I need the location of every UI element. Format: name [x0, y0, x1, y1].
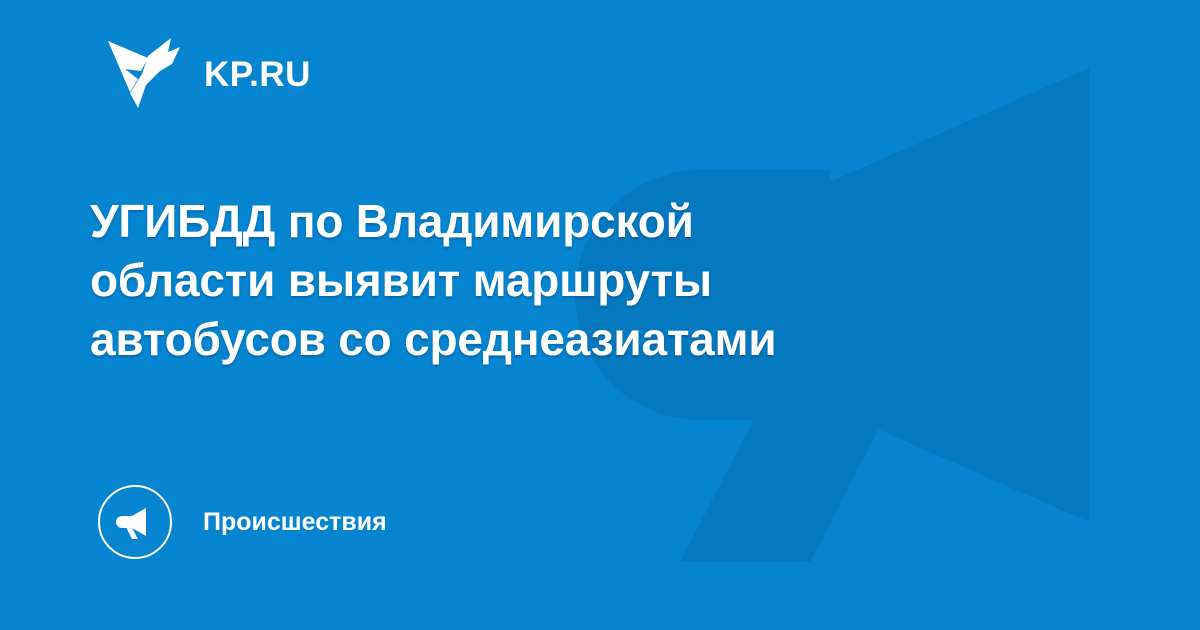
headline-line-2: области выявит маршруты [90, 251, 970, 310]
swallow-bird-icon [108, 38, 182, 110]
headline: УГИБДД по Владимирской области выявит ма… [90, 192, 970, 369]
brand-logo[interactable]: KP.RU [108, 36, 311, 112]
news-share-card: KP.RU УГИБДД по Владимирской области выя… [0, 0, 1200, 630]
megaphone-icon [98, 485, 172, 559]
brand-wordmark: KP.RU [204, 57, 311, 92]
headline-line-1: УГИБДД по Владимирской [90, 192, 970, 251]
headline-line-3: автобусов со среднеазиатами [90, 310, 970, 369]
category-label: Происшествия [203, 510, 387, 535]
category-badge[interactable]: Происшествия [98, 484, 387, 560]
